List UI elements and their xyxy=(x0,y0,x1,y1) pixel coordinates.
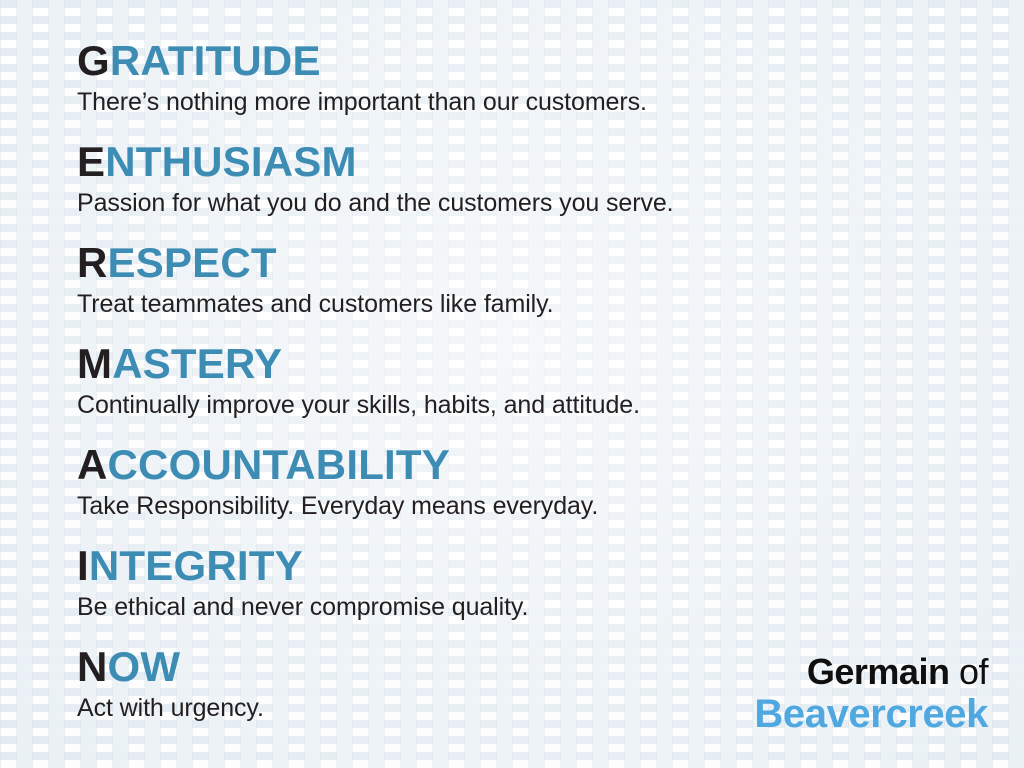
value-initial-letter: I xyxy=(77,542,89,589)
value-description-mastery: Continually improve your skills, habits,… xyxy=(77,389,957,421)
value-heading-accountability: ACCOUNTABILITY xyxy=(77,442,957,488)
value-initial-letter: E xyxy=(77,138,105,185)
value-description-accountability: Take Responsibility. Everyday means ever… xyxy=(77,490,957,522)
value-initial-letter: M xyxy=(77,340,112,387)
value-description-respect: Treat teammates and customers like famil… xyxy=(77,288,957,320)
value-block-respect: RESPECT Treat teammates and customers li… xyxy=(77,240,957,320)
value-initial-letter: A xyxy=(77,441,108,488)
dealership-logo: Germain of Beavercreek xyxy=(754,652,988,736)
value-heading-integrity: INTEGRITY xyxy=(77,543,957,589)
value-heading-respect: RESPECT xyxy=(77,240,957,286)
value-block-enthusiasm: ENTHUSIASM Passion for what you do and t… xyxy=(77,139,957,219)
core-values-list: GRATITUDE There’s nothing more important… xyxy=(77,38,957,745)
value-block-mastery: MASTERY Continually improve your skills,… xyxy=(77,341,957,421)
logo-top-line: Germain of xyxy=(754,652,988,692)
value-remaining-letters: ESPECT xyxy=(108,239,277,286)
value-block-integrity: INTEGRITY Be ethical and never compromis… xyxy=(77,543,957,623)
value-block-gratitude: GRATITUDE There’s nothing more important… xyxy=(77,38,957,118)
logo-brand-name: Germain xyxy=(807,651,950,692)
value-block-accountability: ACCOUNTABILITY Take Responsibility. Ever… xyxy=(77,442,957,522)
value-remaining-letters: NTHUSIASM xyxy=(105,138,356,185)
value-remaining-letters: CCOUNTABILITY xyxy=(108,441,450,488)
value-initial-letter: G xyxy=(77,37,110,84)
value-remaining-letters: NTEGRITY xyxy=(89,542,303,589)
value-initial-letter: N xyxy=(77,643,108,690)
value-description-gratitude: There’s nothing more important than our … xyxy=(77,86,957,118)
value-heading-mastery: MASTERY xyxy=(77,341,957,387)
value-initial-letter: R xyxy=(77,239,108,286)
value-remaining-letters: OW xyxy=(108,643,181,690)
value-heading-gratitude: GRATITUDE xyxy=(77,38,957,84)
value-description-enthusiasm: Passion for what you do and the customer… xyxy=(77,187,957,219)
value-description-integrity: Be ethical and never compromise quality. xyxy=(77,591,957,623)
value-remaining-letters: ASTERY xyxy=(112,340,282,387)
values-slide: GRATITUDE There’s nothing more important… xyxy=(0,0,1024,768)
value-remaining-letters: RATITUDE xyxy=(110,37,321,84)
value-heading-enthusiasm: ENTHUSIASM xyxy=(77,139,957,185)
logo-connector-word: of xyxy=(959,651,988,692)
logo-location-name: Beavercreek xyxy=(754,692,988,736)
